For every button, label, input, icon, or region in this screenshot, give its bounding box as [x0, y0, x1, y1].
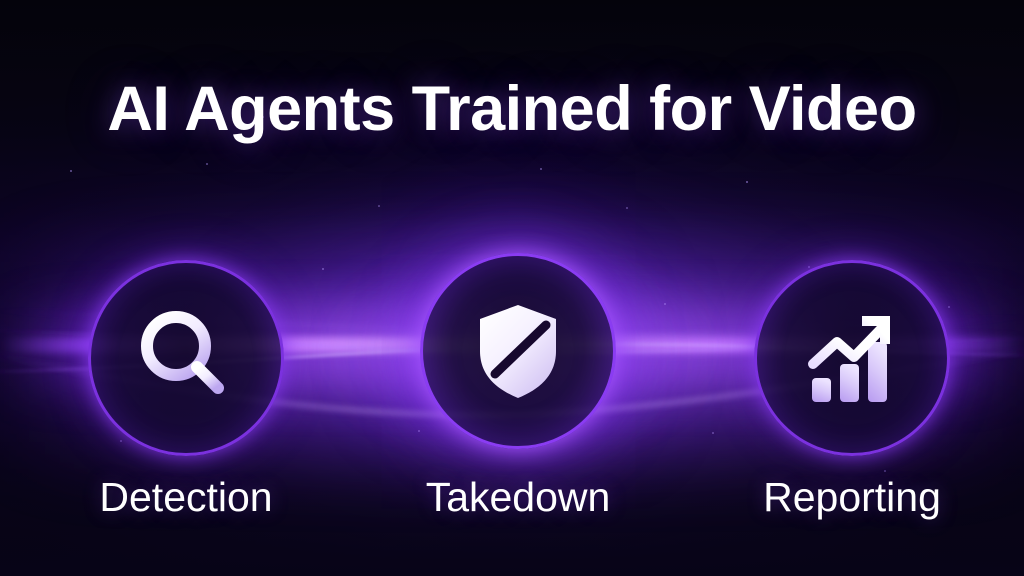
feature-circle-takedown[interactable] — [420, 253, 616, 449]
magnifier-icon — [126, 298, 246, 418]
feature-circle-detection[interactable] — [88, 260, 284, 456]
feature-label-detection: Detection — [6, 474, 366, 521]
feature-label-takedown: Takedown — [338, 474, 698, 521]
bar-chart-trending-up-icon — [792, 298, 912, 418]
feature-label-reporting: Reporting — [672, 474, 1024, 521]
feature-circle-reporting[interactable] — [754, 260, 950, 456]
poster-canvas: AI Agents Trained for Video — [0, 0, 1024, 576]
page-title: AI Agents Trained for Video — [0, 74, 1024, 145]
shield-slash-icon — [458, 291, 578, 411]
